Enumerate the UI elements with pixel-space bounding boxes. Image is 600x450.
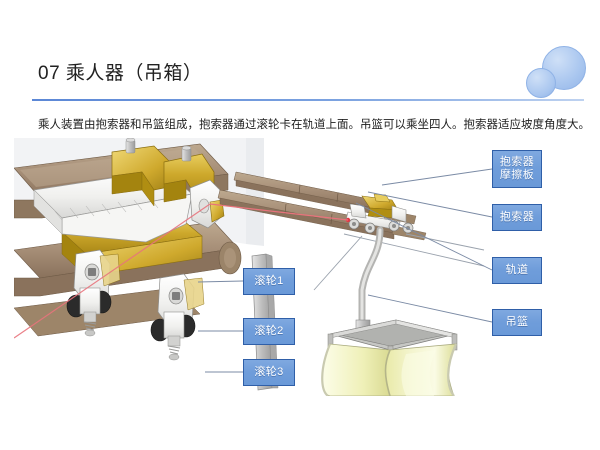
decorative-circles-group: [522, 42, 592, 104]
callout-roller-1[interactable]: 滚轮1: [243, 268, 295, 295]
callout-roller-3-label: 滚轮3: [254, 366, 283, 379]
body-paragraph: 乘人装置由抱索器和吊篮组成，抱索器通过滚轮卡在轨道上面。吊篮可以乘坐四人。抱索器…: [38, 117, 578, 133]
callout-roller-2-label: 滚轮2: [254, 325, 283, 338]
callout-friction-plate[interactable]: 抱索器 摩擦板: [492, 150, 542, 188]
callout-track-label: 轨道: [506, 264, 529, 277]
decorative-circle-small-icon: [526, 68, 556, 98]
callout-roller-1-label: 滚轮1: [254, 275, 283, 288]
callout-gripper[interactable]: 抱索器: [492, 204, 542, 231]
callout-basket[interactable]: 吊篮: [492, 309, 542, 336]
hanger-arm: [356, 230, 380, 332]
callout-track[interactable]: 轨道: [492, 257, 542, 284]
support-cables: [314, 234, 484, 290]
gondola-basket: [322, 320, 457, 396]
callout-friction-plate-label: 抱索器 摩擦板: [500, 156, 534, 182]
slide-canvas: 07 乘人器（吊箱） 乘人装置由抱索器和吊篮组成，抱索器通过滚轮卡在轨道上面。吊…: [0, 0, 600, 450]
page-title: 07 乘人器（吊箱）: [38, 58, 202, 85]
header-divider-rule: [32, 99, 584, 101]
callout-basket-label: 吊篮: [506, 316, 529, 329]
callout-roller-3[interactable]: 滚轮3: [243, 359, 295, 386]
callout-gripper-label: 抱索器: [500, 211, 534, 224]
callout-roller-2[interactable]: 滚轮2: [243, 318, 295, 345]
